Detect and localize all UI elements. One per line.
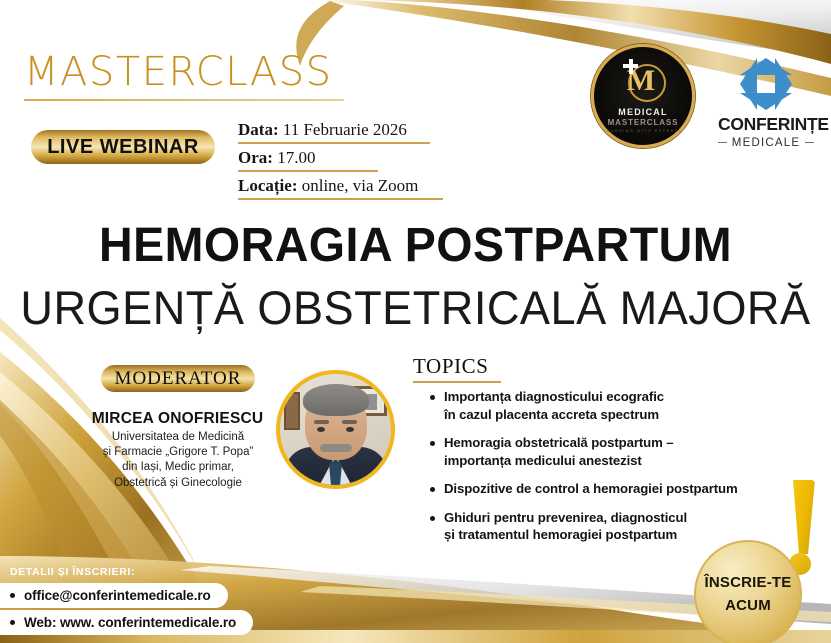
event-location-row: Locație: online, via Zoom [238,176,468,198]
topics-list: Importanța diagnosticului ecografic în c… [430,388,802,555]
bullet-icon [10,593,15,598]
conferinte-medicale-logo: CONFERINȚE MEDICALE [718,58,814,149]
photo-tie [329,459,342,489]
moderator-affiliation: Universitatea de Medicină și Farmacie „G… [62,430,294,491]
photo-wall-frame-left [284,392,300,430]
topic-line1: Importanța diagnosticului ecografic [444,389,664,404]
topic-line2: și tratamentul hemoragiei postpartum [444,527,677,542]
moderator-name: MIRCEA ONOFRIESCU [70,410,285,428]
event-date-row: Data: 11 Februarie 2026 [238,120,468,142]
diamond-right-triangle [775,58,792,110]
bullet-icon [430,487,435,492]
badge-line3: LEARNING WITH EXPERTS [604,129,683,133]
poster-canvas: MASTERCLASS LIVE WEBINAR Data: 11 Februa… [0,0,831,643]
conferinte-sub: MEDICALE [732,137,800,149]
moderator-photo [276,370,395,489]
photo-mustache [320,444,352,452]
main-title-line2: URGENȚĂ OBSTETRICALĂ MAJORĂ [17,284,815,331]
cta-line2: ACUM [725,597,771,614]
event-details: Data: 11 Februarie 2026 Ora: 17.00 Locaț… [238,120,468,204]
conferinte-name: CONFERINȚE [718,116,814,134]
badge-line1: MEDICAL [618,107,667,117]
conferinte-sub-row: MEDICALE [718,137,814,149]
photo-eye-left [317,427,325,432]
footer-label: DETALII ȘI ÎNSCRIERI: [10,566,135,578]
dash-left-icon [718,142,727,144]
time-underline [238,170,378,172]
exclamation-mark-icon [790,480,815,575]
photo-eyebrow-right [342,420,357,424]
topic-item: Importanța diagnosticului ecografic în c… [430,388,802,423]
event-location-value: online, via Zoom [302,176,419,195]
live-webinar-badge: LIVE WEBINAR [31,130,215,164]
event-time-label: Ora: [238,148,273,167]
bullet-icon [430,516,435,521]
photo-eye-right [346,427,354,432]
topics-underline [413,381,501,383]
date-underline [238,142,430,144]
affiliation-line3: din Iași, Medic primar, [62,460,294,475]
topic-text: Hemoragia obstetricală postpartum – impo… [444,434,674,469]
photo-eyebrow-left [314,420,329,424]
affiliation-line2: și Farmacie „Grigore T. Popa” [62,445,294,460]
medical-masterclass-logo: M MEDICAL MASTERCLASS LEARNING WITH EXPE… [591,44,695,148]
topic-line2: importanța medicului anestezist [444,453,642,468]
topic-text: Dispozitive de control a hemoragiei post… [444,480,738,498]
footer-web: Web: www. conferintemedicale.ro [24,615,236,630]
badge-line2: MASTERCLASS [608,118,679,127]
diamond-icon [740,58,792,110]
cta-line1: ÎNSCRIE-TE [704,574,791,592]
footer-web-item[interactable]: Web: www. conferintemedicale.ro [0,610,253,635]
bullet-icon [10,620,15,625]
affiliation-line1: Universitatea de Medicină [62,430,294,445]
affiliation-line4: Obstetrică și Ginecologie [62,476,294,491]
masterclass-monogram-icon: M [615,62,671,106]
event-date-label: Data: [238,120,279,139]
event-time-value: 17.00 [277,148,315,167]
event-location-label: Locație: [238,176,297,195]
moderator-badge: MODERATOR [101,365,255,392]
topic-line1: Hemoragia obstetricală postpartum – [444,435,674,450]
masterclass-wordmark: MASTERCLASS [24,52,333,92]
diamond-left-triangle [740,58,757,110]
photo-hair [303,384,369,416]
footer-email: office@conferintemedicale.ro [24,588,211,603]
medical-cross-icon [623,59,638,74]
main-title-line1: HEMORAGIA POSTPARTUM [12,222,818,270]
photo-content [280,374,391,485]
topic-text: Importanța diagnosticului ecografic în c… [444,388,664,423]
dash-right-icon [805,142,814,144]
exclamation-bar [790,480,815,554]
masterclass-underline [24,99,344,101]
topic-line1: Dispozitive de control a hemoragiei post… [444,481,738,496]
footer-email-item[interactable]: office@conferintemedicale.ro [0,583,228,608]
topic-text: Ghiduri pentru prevenirea, diagnosticul … [444,509,687,544]
event-date-value: 11 Februarie 2026 [283,120,407,139]
location-underline [238,198,443,200]
event-time-row: Ora: 17.00 [238,148,468,170]
topic-item: Hemoragia obstetricală postpartum – impo… [430,434,802,469]
bullet-icon [430,441,435,446]
topic-line1: Ghiduri pentru prevenirea, diagnosticul [444,510,687,525]
topic-item: Dispozitive de control a hemoragiei post… [430,480,802,498]
topic-item: Ghiduri pentru prevenirea, diagnosticul … [430,509,802,544]
register-now-button[interactable]: ÎNSCRIE-TE ACUM [694,540,802,643]
bullet-icon [430,395,435,400]
topic-line2: în cazul placenta accreta spectrum [444,407,659,422]
topics-heading: TOPICS [413,354,489,379]
